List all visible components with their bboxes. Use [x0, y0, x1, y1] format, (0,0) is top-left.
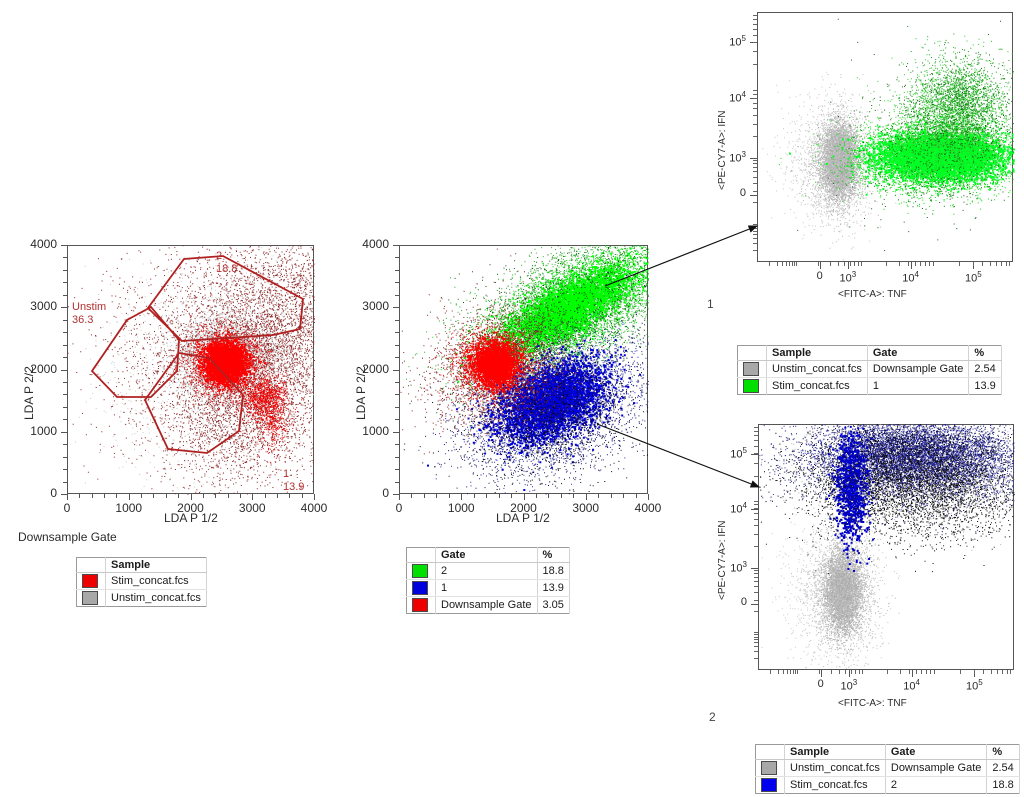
legend-header-row: Gate % — [407, 548, 570, 563]
legend-sample-header: Sample — [767, 346, 868, 361]
y-tick-label: 1000 — [30, 424, 57, 438]
gray-swatch-icon — [743, 362, 759, 376]
x-tick-label: 1000 — [115, 501, 142, 515]
gate-unstim-pct: 36.3 — [72, 314, 93, 326]
gating-plot-frame — [67, 245, 314, 494]
y-tick-label: 4000 — [362, 237, 389, 251]
y-tick-label: 104 — [730, 501, 747, 516]
gate-1-name: 1 — [283, 468, 289, 480]
y-tick-label: 3000 — [362, 299, 389, 313]
tnf-ifn-gate2-legend: Sample Gate % Unstim_concat.fcs Downsamp… — [755, 744, 1020, 794]
legend-gate-header: Gate — [867, 346, 969, 361]
legend-swatch-cell — [738, 361, 767, 378]
x-tick-label: 104 — [902, 270, 919, 285]
legend-pct-cell: 18.8 — [537, 563, 569, 580]
tnf-ifn-gate1-panel-number: 1 — [707, 297, 714, 311]
legend-sample-cell: Unstim_concat.fcs — [106, 590, 207, 607]
x-tick-label: 105 — [965, 270, 982, 285]
x-tick-label: 104 — [903, 678, 920, 693]
red-swatch-icon — [82, 574, 98, 588]
legend-sample-cell: Unstim_concat.fcs — [767, 361, 868, 378]
population-plot-ylabel: LDA P 2/2 — [354, 366, 368, 420]
y-tick-label: 0 — [382, 486, 389, 500]
population-plot-xlabel: LDA P 1/2 — [496, 511, 550, 525]
y-tick-label: 0 — [50, 486, 57, 500]
tnf-ifn-gate2-panel-number: 2 — [709, 710, 716, 724]
x-tick-label: 4000 — [301, 501, 328, 515]
legend-swatch-cell — [407, 563, 436, 580]
legend-gate-cell: Downsample Gate — [867, 361, 969, 378]
x-tick-label: 103 — [840, 270, 857, 285]
gray-swatch-icon — [82, 591, 98, 605]
gate-1-pct: 13.9 — [283, 481, 304, 493]
legend-pct-cell: 2.54 — [987, 760, 1019, 777]
x-tick-label: 1000 — [448, 501, 475, 515]
gating-unstim-label: Unstim 36.3 — [72, 301, 106, 326]
x-tick-label: 0 — [818, 678, 824, 690]
legend-pct-cell: 3.05 — [537, 597, 569, 614]
x-tick-label: 0 — [396, 501, 403, 515]
legend-header-row: Sample Gate % — [738, 346, 1002, 361]
legend-gate-cell: 2 — [436, 563, 538, 580]
legend-gate-header: Gate — [436, 548, 538, 563]
gate-2-name: 2 — [216, 250, 222, 262]
legend-sample-header: Sample — [106, 558, 207, 573]
y-tick-label: 103 — [730, 560, 747, 575]
tnf-ifn-gate2-plot-frame — [758, 424, 1014, 670]
tnf-ifn-gate2-xlabel: <FITC-A>: TNF — [838, 698, 907, 709]
tnf-ifn-gate1-plot-frame — [757, 12, 1013, 262]
legend-header-row: Sample — [77, 558, 207, 573]
gating-plot-ylabel: LDA P 2/2 — [22, 366, 36, 420]
red-swatch-icon — [412, 598, 428, 612]
gating-plot-caption: Downsample Gate — [18, 530, 117, 544]
legend-gate-cell: Downsample Gate — [436, 597, 538, 614]
table-row: Unstim_concat.fcs Downsample Gate 2.54 — [738, 361, 1002, 378]
legend-pct-cell: 13.9 — [537, 580, 569, 597]
legend-pct-header: % — [987, 745, 1019, 760]
table-row: Unstim_concat.fcs Downsample Gate 2.54 — [756, 760, 1020, 777]
y-tick-label: 103 — [729, 150, 746, 165]
legend-gate-cell: 1 — [436, 580, 538, 597]
tnf-ifn-gate1-legend: Sample Gate % Unstim_concat.fcs Downsamp… — [737, 345, 1002, 395]
legend-swatch-cell — [756, 760, 785, 777]
y-tick-label: 3000 — [30, 299, 57, 313]
table-row: Stim_concat.fcs — [77, 573, 207, 590]
legend-swatch-header — [738, 346, 767, 361]
legend-swatch-cell — [77, 590, 106, 607]
x-tick-label: 3000 — [239, 501, 266, 515]
x-tick-label: 0 — [817, 270, 823, 282]
legend-pct-header: % — [537, 548, 569, 563]
gray-swatch-icon — [761, 761, 777, 775]
legend-header-row: Sample Gate % — [756, 745, 1020, 760]
legend-gate-header: Gate — [885, 745, 987, 760]
table-row: 1 13.9 — [407, 580, 570, 597]
population-plot-legend: Gate % 2 18.8 1 13.9 Downsample Gate 3.0… — [406, 547, 570, 614]
table-row: Downsample Gate 3.05 — [407, 597, 570, 614]
gating-gate-2-label: 2 18.8 — [216, 250, 237, 275]
legend-swatch-header — [77, 558, 106, 573]
gating-gate-1-label: 1 13.9 — [283, 468, 304, 493]
table-row: Stim_concat.fcs 2 18.8 — [756, 777, 1020, 794]
y-tick-label: 4000 — [30, 237, 57, 251]
gate-2-pct: 18.8 — [216, 263, 237, 275]
gating-plot-legend: Sample Stim_concat.fcs Unstim_concat.fcs — [76, 557, 207, 607]
y-tick-label: 105 — [729, 34, 746, 49]
legend-swatch-cell — [407, 580, 436, 597]
x-tick-label: 3000 — [572, 501, 599, 515]
legend-sample-cell: Unstim_concat.fcs — [785, 760, 886, 777]
blue-swatch-icon — [761, 778, 777, 792]
legend-pct-header: % — [969, 346, 1001, 361]
y-tick-label: 0 — [740, 187, 746, 199]
gating-plot-xlabel: LDA P 1/2 — [164, 511, 218, 525]
legend-swatch-header — [756, 745, 785, 760]
blue-swatch-icon — [412, 581, 428, 595]
legend-sample-cell: Stim_concat.fcs — [106, 573, 207, 590]
legend-sample-header: Sample — [785, 745, 886, 760]
table-row: Unstim_concat.fcs — [77, 590, 207, 607]
x-tick-label: 0 — [64, 501, 71, 515]
tnf-ifn-gate2-ylabel: <PE-CY7-A>: IFN — [717, 521, 728, 600]
legend-sample-cell: Stim_concat.fcs — [785, 777, 886, 794]
x-tick-label: 4000 — [635, 501, 662, 515]
legend-gate-cell: Downsample Gate — [885, 760, 987, 777]
legend-gate-cell: 1 — [867, 378, 969, 395]
gate-unstim-name: Unstim — [72, 301, 106, 313]
green-swatch-icon — [743, 379, 759, 393]
legend-pct-cell: 18.8 — [987, 777, 1019, 794]
y-tick-label: 105 — [730, 446, 747, 461]
table-row: Stim_concat.fcs 1 13.9 — [738, 378, 1002, 395]
x-tick-label: 103 — [841, 678, 858, 693]
y-tick-label: 1000 — [362, 424, 389, 438]
y-tick-label: 0 — [741, 596, 747, 608]
legend-pct-cell: 2.54 — [969, 361, 1001, 378]
legend-sample-cell: Stim_concat.fcs — [767, 378, 868, 395]
legend-swatch-cell — [407, 597, 436, 614]
table-row: 2 18.8 — [407, 563, 570, 580]
legend-swatch-cell — [756, 777, 785, 794]
green-swatch-icon — [412, 564, 428, 578]
x-tick-label: 105 — [966, 678, 983, 693]
population-plot-frame — [399, 245, 648, 494]
tnf-ifn-gate1-ylabel: <PE-CY7-A>: IFN — [717, 111, 728, 190]
legend-swatch-cell — [738, 378, 767, 395]
legend-pct-cell: 13.9 — [969, 378, 1001, 395]
legend-swatch-header — [407, 548, 436, 563]
y-tick-label: 104 — [729, 90, 746, 105]
tnf-ifn-gate1-xlabel: <FITC-A>: TNF — [838, 289, 907, 300]
legend-swatch-cell — [77, 573, 106, 590]
legend-gate-cell: 2 — [885, 777, 987, 794]
